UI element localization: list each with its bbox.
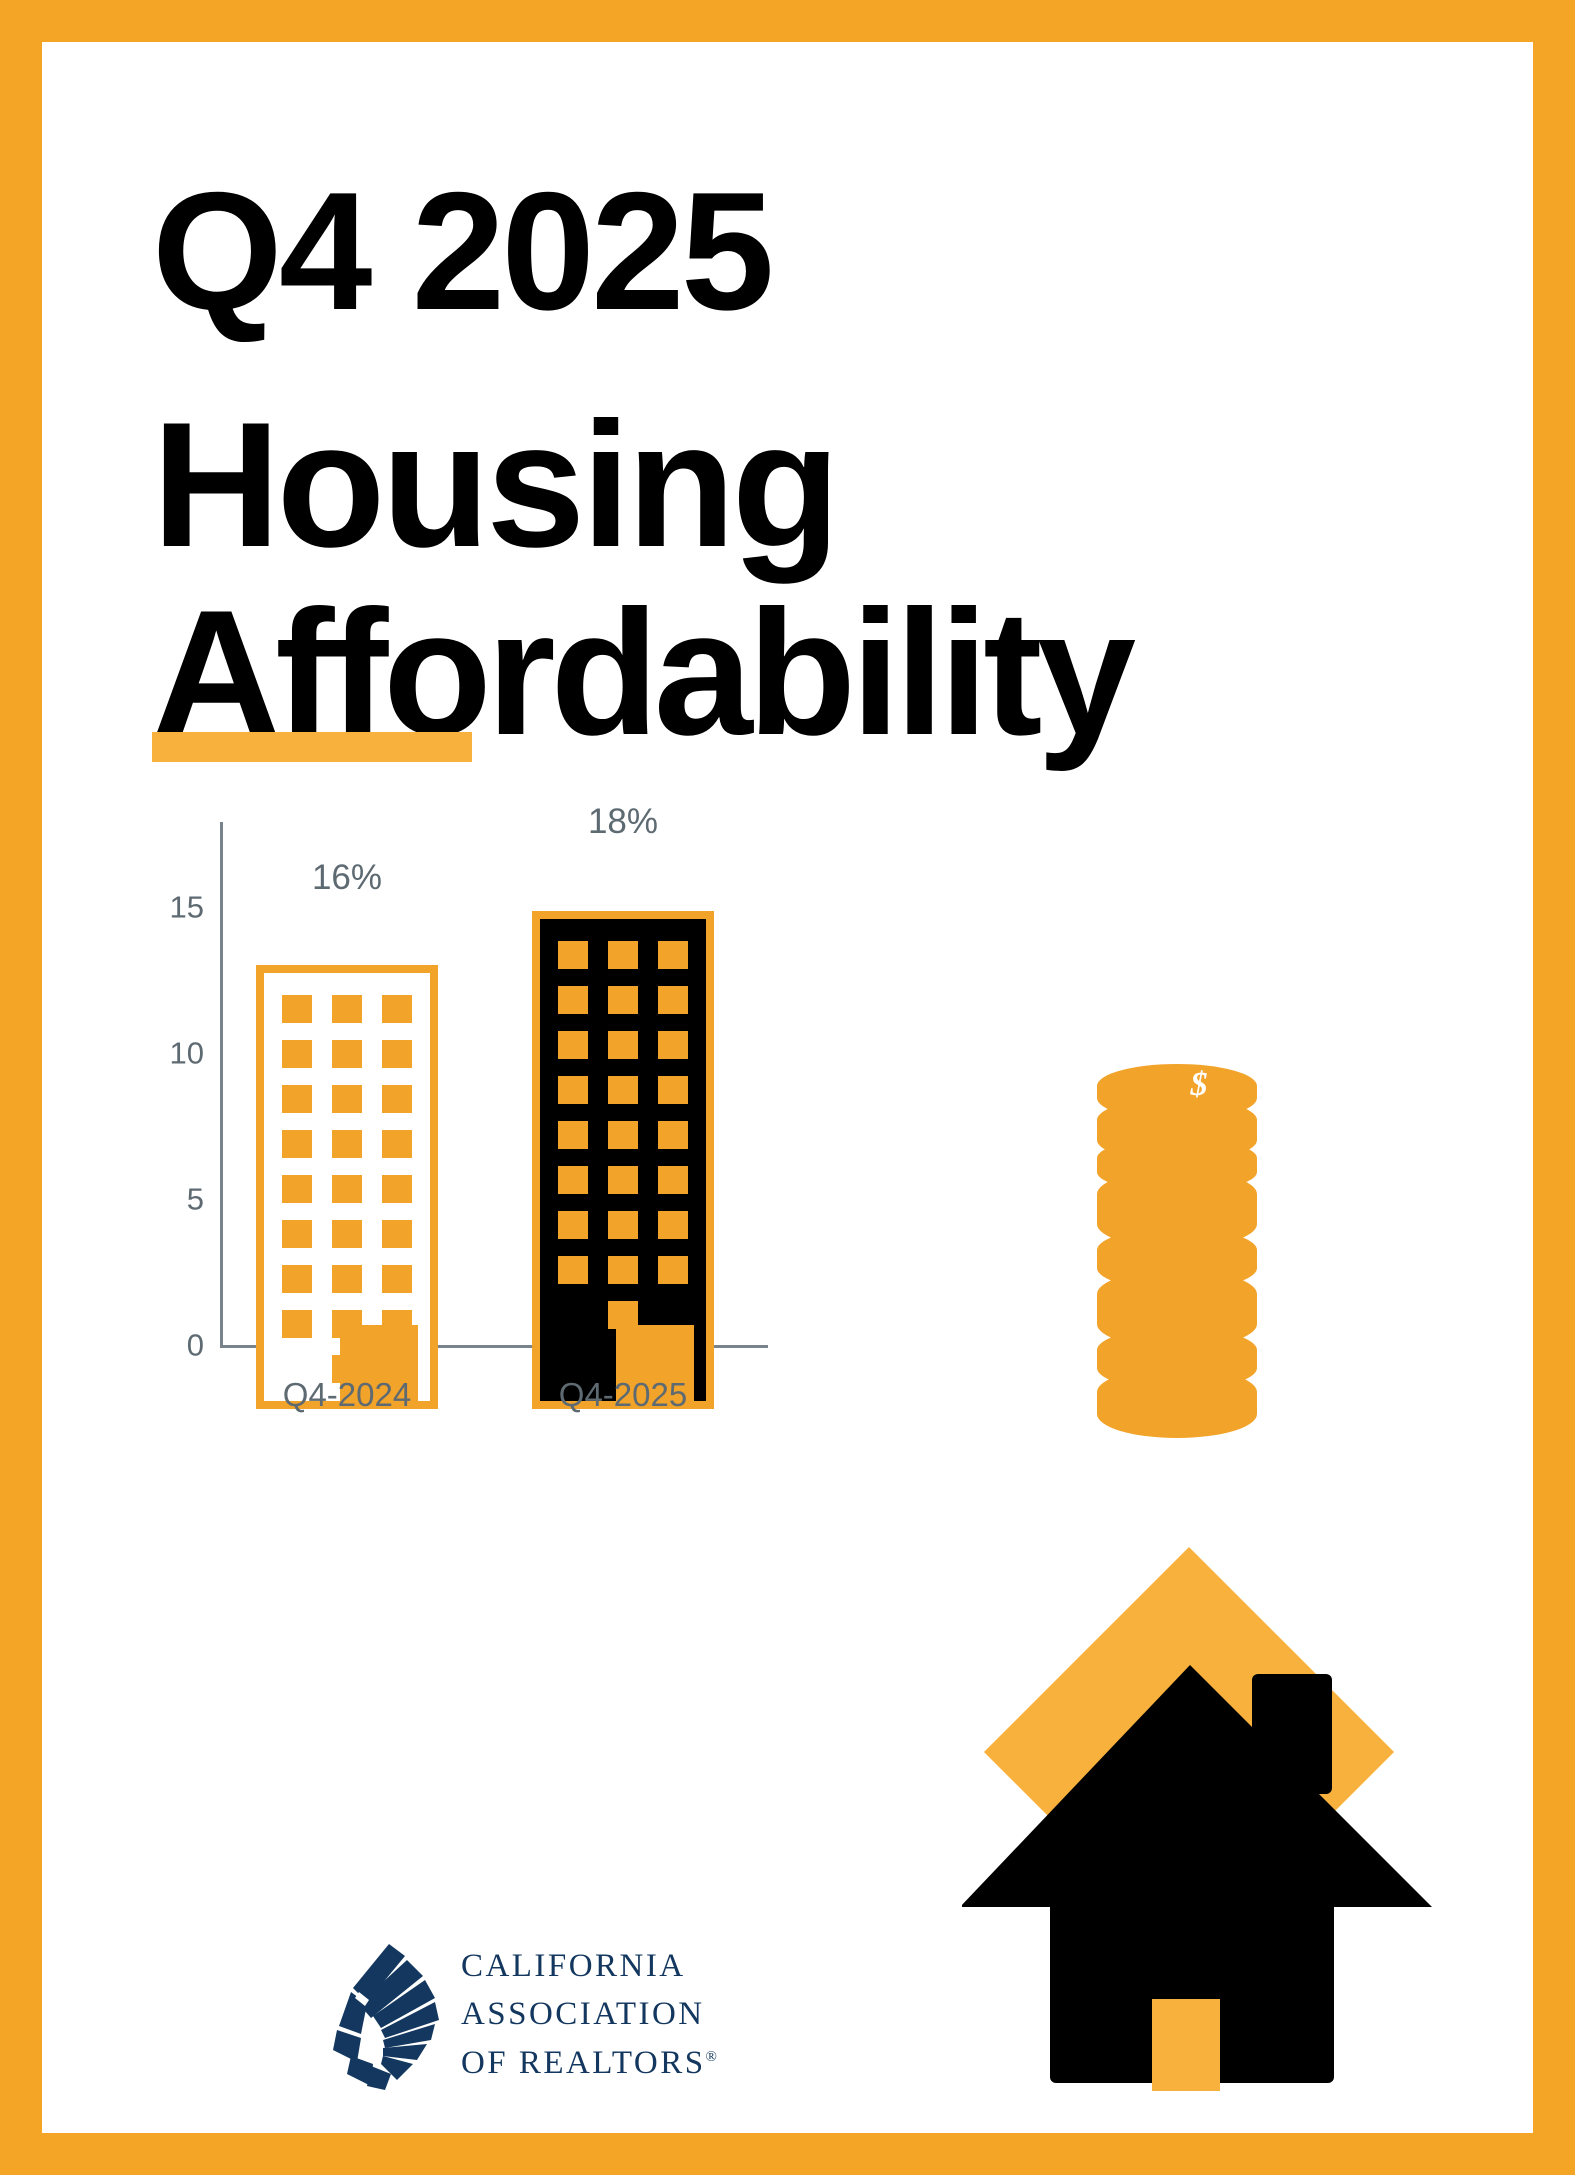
dollar-sign-icon: $ [1190, 1066, 1208, 1103]
x-axis-label-q4-2025: Q4-2025 [512, 1378, 734, 1411]
coin-stack-icon: $ [1087, 1062, 1317, 1452]
car-logo-mark-icon [327, 1940, 439, 2090]
poster-frame: Q4 2025 Housing Affordability 0 5 10 15 … [0, 0, 1575, 2175]
bar-value-label-q4-2025: 18% [532, 804, 714, 839]
logo-line-of-realtors-text: OF REALTORS [461, 2045, 706, 2081]
car-logo-wordmark: CALIFORNIA ASSOCIATION OF REALTORS® [461, 1942, 719, 2087]
bar-q4-2024[interactable] [256, 965, 438, 1409]
poster-inner-canvas: Q4 2025 Housing Affordability 0 5 10 15 … [42, 42, 1533, 2133]
chart-y-axis-line [220, 822, 223, 1347]
y-tick-15: 15 [112, 892, 204, 923]
house-icon [962, 1537, 1432, 2107]
y-tick-10: 10 [112, 1038, 204, 1069]
x-axis-label-q4-2024: Q4-2024 [236, 1378, 458, 1411]
bar-q4-2025[interactable] [532, 911, 714, 1409]
bar-value-label-q4-2024: 16% [256, 860, 438, 895]
california-association-of-realtors-logo: CALIFORNIA ASSOCIATION OF REALTORS® [327, 1927, 727, 2102]
y-tick-0: 0 [112, 1330, 204, 1361]
title-line-quarter: Q4 2025 [152, 167, 1412, 335]
logo-line-california: CALIFORNIA [461, 1942, 719, 1990]
y-tick-5: 5 [112, 1184, 204, 1215]
title-accent-bar [152, 732, 472, 762]
chart-y-ticks: 0 5 10 15 [104, 812, 204, 1358]
registered-trademark-symbol: ® [706, 2049, 720, 2065]
svg-text:$: $ [1190, 1066, 1208, 1103]
affordability-bar-chart: 0 5 10 15 16% [104, 812, 764, 1412]
page-title: Q4 2025 Housing Affordability [152, 167, 1412, 761]
logo-line-of-realtors: OF REALTORS® [461, 2039, 719, 2087]
title-line-housing: Housing [152, 397, 1412, 573]
logo-line-association: ASSOCIATION [461, 1990, 719, 2038]
